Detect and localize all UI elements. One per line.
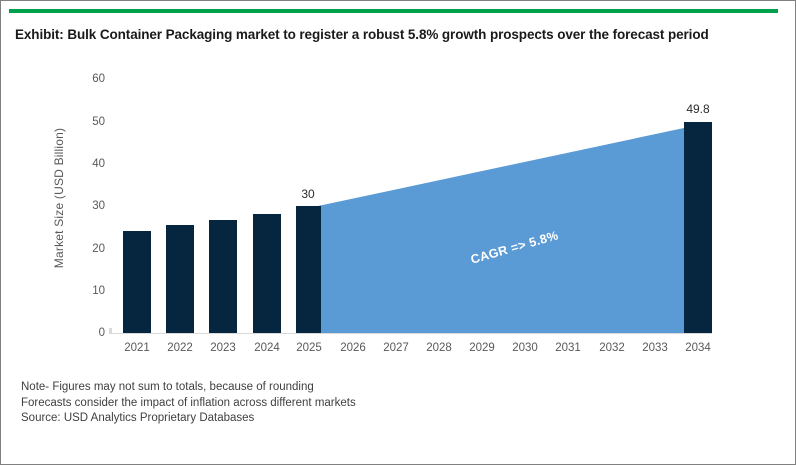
y-tick-label-60: 60 [71, 73, 105, 85]
footnote-line-2: Forecasts consider the impact of inflati… [21, 396, 356, 412]
bar-value-label-2034: 49.8 [663, 102, 733, 116]
bar-2034 [684, 122, 712, 333]
y-axis-title: Market Size (USD Billion) [52, 88, 66, 308]
footnote-line-1: Note- Figures may not sum to totals, bec… [21, 380, 356, 396]
bar-value-label-2025: 30 [273, 187, 343, 201]
footnote-line-3: Source: USD Analytics Proprietary Databa… [21, 411, 356, 427]
x-axis-line [111, 333, 712, 334]
y-tick-label-40: 40 [71, 158, 105, 170]
y-tick-label-0: 0 [71, 327, 105, 339]
y-tick-label-50: 50 [71, 116, 105, 128]
bar-2025 [296, 206, 321, 333]
bar-2024 [253, 214, 281, 333]
bar-2022 [166, 225, 194, 333]
bar-2021 [123, 231, 151, 333]
bar-2023 [209, 220, 237, 333]
y-tick-label-10: 10 [71, 285, 105, 297]
cagr-annotation-label: CAGR => 5.8% [469, 228, 560, 266]
y-tick-label-20: 20 [71, 243, 105, 255]
x-tick-label-2034: 2034 [668, 342, 728, 354]
y-tick-label-30: 30 [71, 200, 105, 212]
chart-page: Exhibit: Bulk Container Packaging market… [0, 0, 796, 465]
footnotes: Note- Figures may not sum to totals, bec… [21, 380, 356, 427]
